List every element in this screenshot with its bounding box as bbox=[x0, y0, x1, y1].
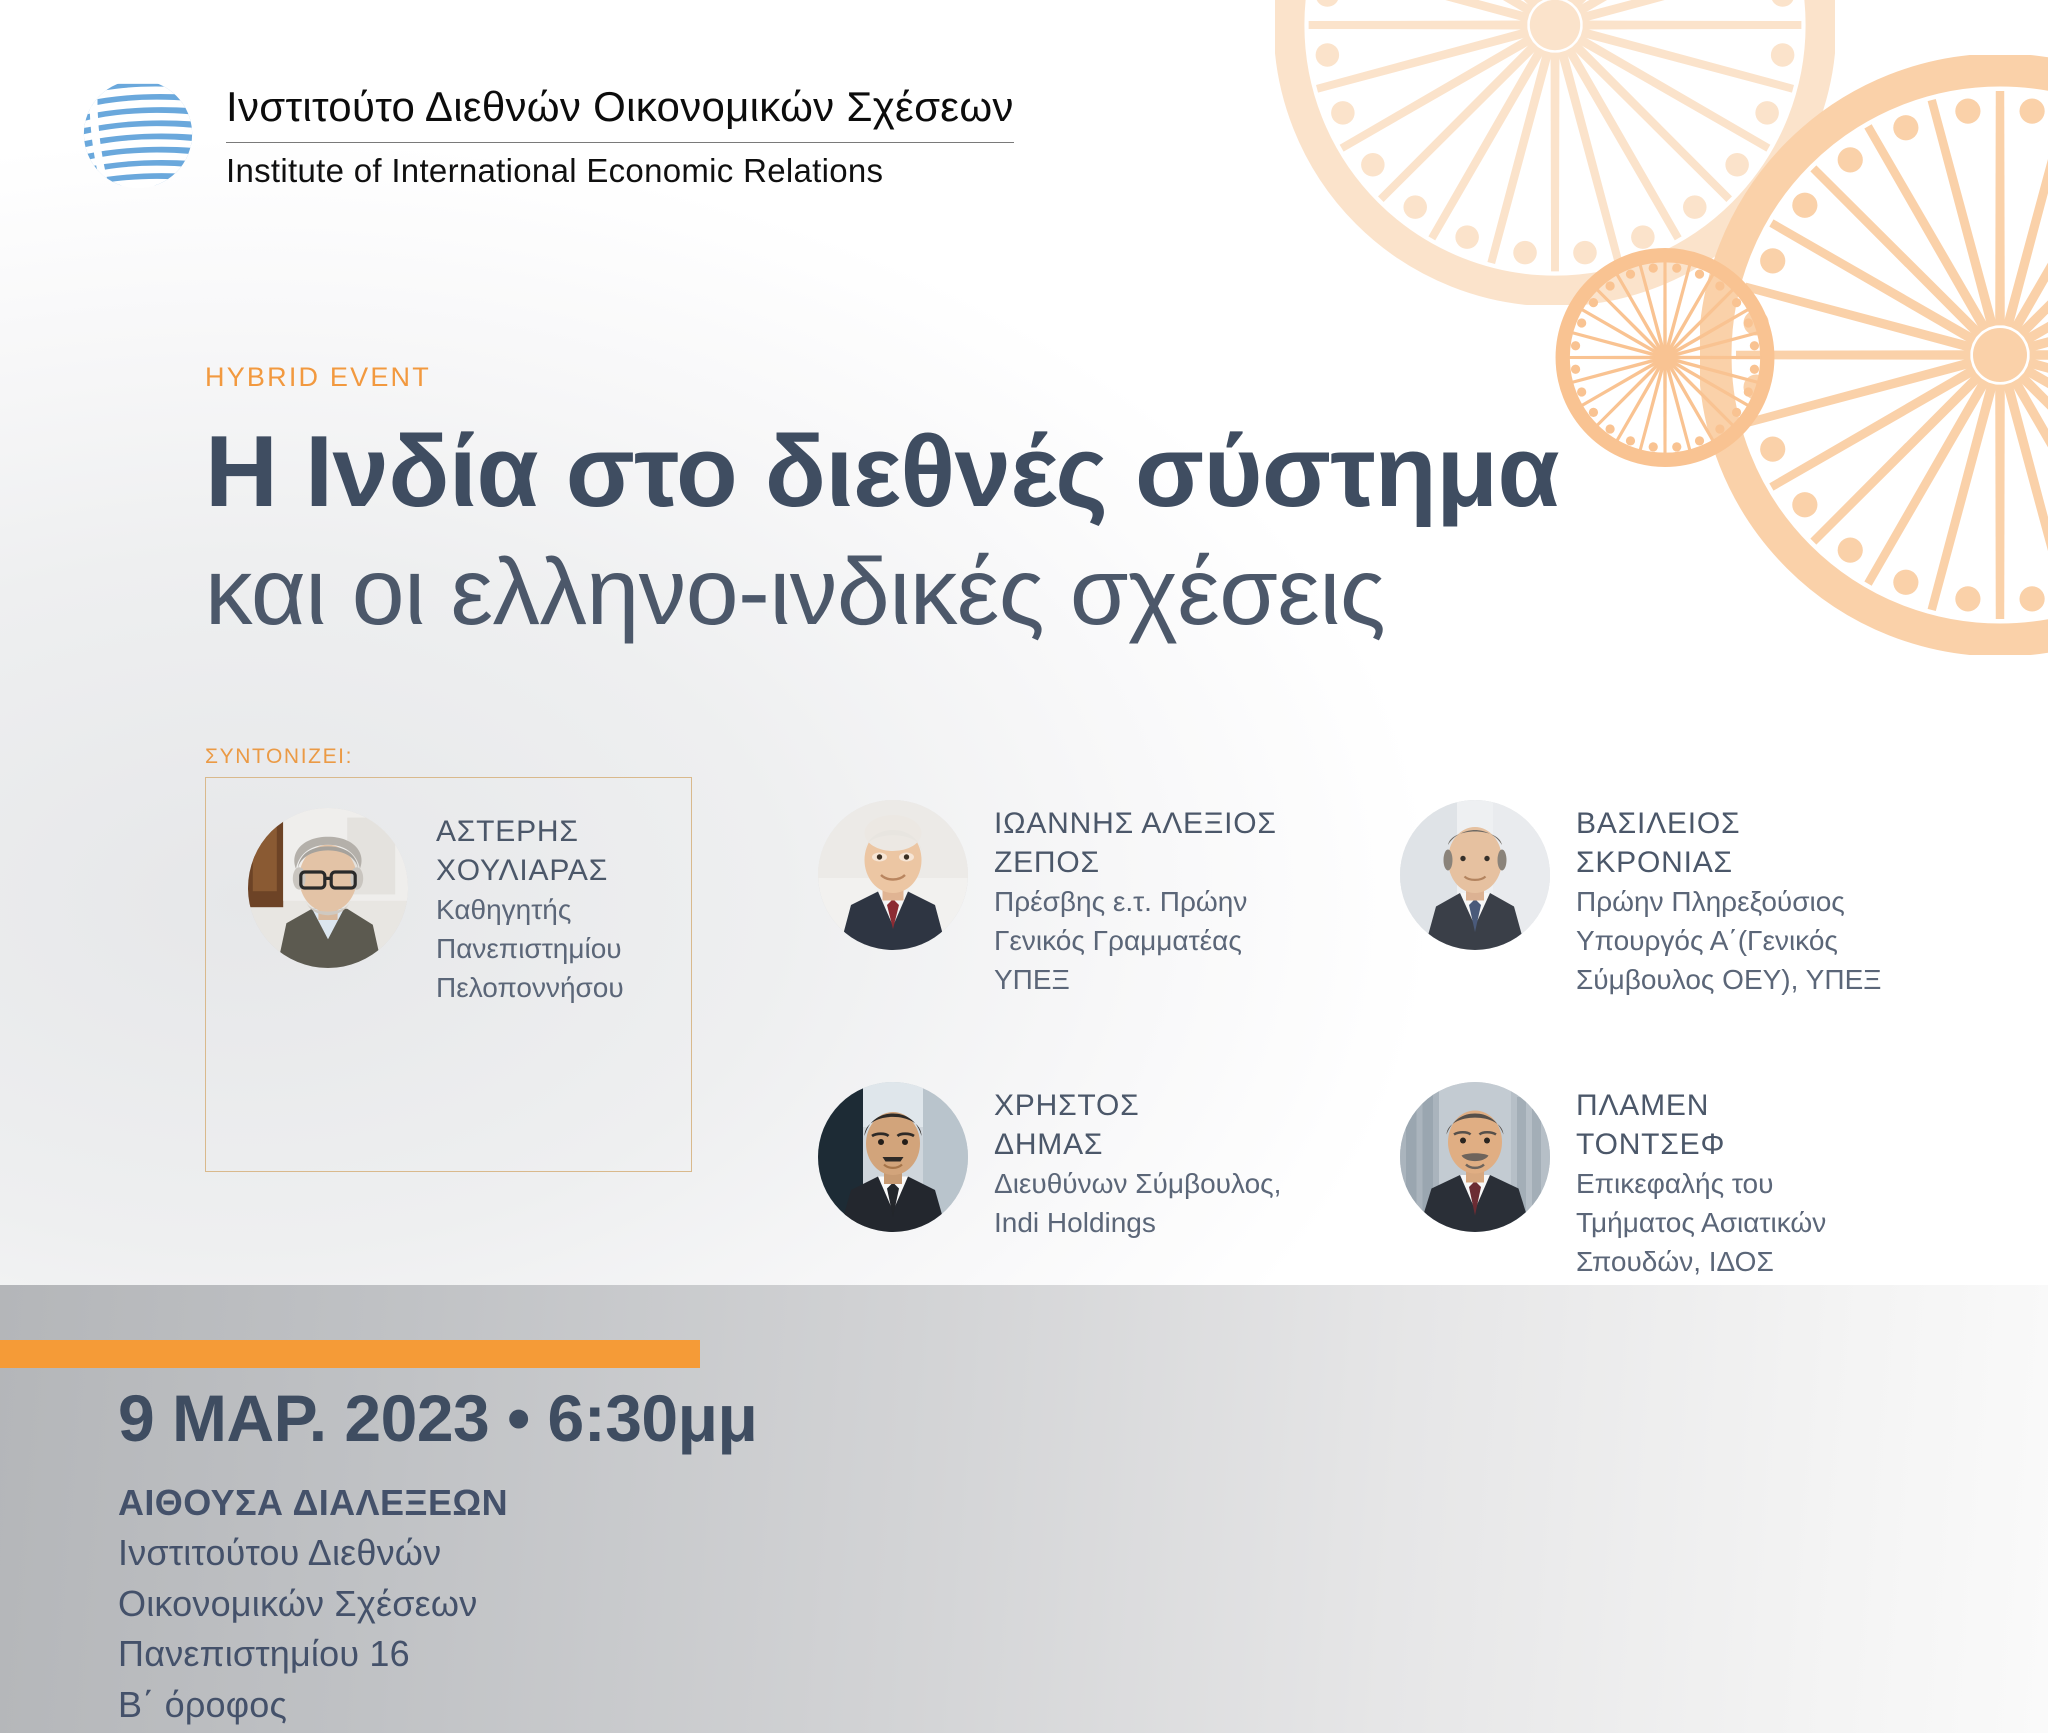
moderator-name-line-1: ΑΣΤΕΡΗΣ bbox=[436, 812, 624, 851]
logo-divider bbox=[226, 142, 1014, 143]
ashoka-chakra-icon bbox=[1275, 0, 1835, 305]
moderator-card: ΑΣΤΕΡΗΣ ΧΟΥΛΙΑΡΑΣ Καθηγητής Πανεπιστημίο… bbox=[248, 808, 624, 1007]
speaker-name-line-2: ΖΕΠΟΣ bbox=[994, 843, 1277, 882]
speaker-role-line-3: Σύμβουλος ΟΕΥ), ΥΠΕΞ bbox=[1576, 962, 1881, 999]
event-type-label: HYBRID EVENT bbox=[205, 362, 431, 393]
ashoka-chakra-icon bbox=[1700, 55, 2048, 655]
moderator-details: ΑΣΤΕΡΗΣ ΧΟΥΛΙΑΡΑΣ Καθηγητής Πανεπιστημίο… bbox=[436, 808, 624, 1007]
speaker-role-line-2: Τμήματος Ασιατικών bbox=[1576, 1205, 1826, 1242]
avatar bbox=[1400, 800, 1550, 950]
speaker-role-line-2: Γενικός Γραμματέας bbox=[994, 923, 1277, 960]
speaker-details: ΠΛΑΜΕΝ ΤΟΝΤΣΕΦ Επικεφαλής του Τμήματος Α… bbox=[1576, 1082, 1826, 1281]
avatar bbox=[818, 800, 968, 950]
speaker-role-line-2: Υπουργός Α΄(Γενικός bbox=[1576, 923, 1881, 960]
moderator-name-line-2: ΧΟΥΛΙΑΡΑΣ bbox=[436, 851, 624, 890]
speaker-role-line-1: Επικεφαλής του bbox=[1576, 1166, 1826, 1203]
moderator-role-line-3: Πελοποννήσου bbox=[436, 970, 624, 1007]
avatar bbox=[248, 808, 408, 968]
speaker-card: ΧΡΗΣΤΟΣ ΔΗΜΑΣ Διευθύνων Σύμβουλος, Indi … bbox=[818, 1082, 1281, 1244]
organization-header: Ινστιτούτο Διεθνών Οικονομικών Σχέσεων I… bbox=[72, 68, 1014, 200]
speaker-details: ΧΡΗΣΤΟΣ ΔΗΜΑΣ Διευθύνων Σύμβουλος, Indi … bbox=[994, 1082, 1281, 1244]
speaker-name-line-1: ΒΑΣΙΛΕΙΟΣ bbox=[1576, 804, 1881, 843]
avatar bbox=[818, 1082, 968, 1232]
speaker-name-line-2: ΣΚΡΟΝΙΑΣ bbox=[1576, 843, 1881, 882]
page-title: Η Ινδία στο διεθνές σύστημα και οι ελλην… bbox=[205, 418, 1705, 645]
title-line-1: Η Ινδία στο διεθνές σύστημα bbox=[205, 418, 1705, 527]
speaker-name-line-1: ΠΛΑΜΕΝ bbox=[1576, 1086, 1826, 1125]
venue-line-2: Οικονομικών Σχέσεων bbox=[118, 1579, 508, 1629]
speaker-card: ΠΛΑΜΕΝ ΤΟΝΤΣΕΦ Επικεφαλής του Τμήματος Α… bbox=[1400, 1082, 1826, 1281]
speaker-details: ΒΑΣΙΛΕΙΟΣ ΣΚΡΟΝΙΑΣ Πρώην Πληρεξούσιος Υπ… bbox=[1576, 800, 1881, 999]
organization-name-en: Institute of International Economic Rela… bbox=[226, 152, 1014, 190]
speaker-role-line-3: Σπουδών, ΙΔΟΣ bbox=[1576, 1244, 1826, 1281]
speaker-role-line-2: Indi Holdings bbox=[994, 1205, 1281, 1242]
speaker-name-line-2: ΔΗΜΑΣ bbox=[994, 1125, 1281, 1164]
event-datetime: 9 ΜΑΡ. 2023 • 6:30μμ bbox=[118, 1380, 757, 1456]
speaker-role-line-1: Διευθύνων Σύμβουλος, bbox=[994, 1166, 1281, 1203]
accent-bar bbox=[0, 1340, 700, 1368]
speaker-role-line-3: ΥΠΕΞ bbox=[994, 962, 1277, 999]
venue-line-3: Πανεπιστημίου 16 bbox=[118, 1629, 508, 1679]
venue-block: ΑΙΘΟΥΣΑ ΔΙΑΛΕΞΕΩΝ Ινστιτούτου Διεθνών Οι… bbox=[118, 1478, 508, 1730]
speaker-role-line-1: Πρώην Πληρεξούσιος bbox=[1576, 884, 1881, 921]
speaker-name-line-1: ΙΩΑΝΝΗΣ ΑΛΕΞΙΟΣ bbox=[994, 804, 1277, 843]
globe-icon bbox=[72, 68, 204, 200]
event-poster: Ινστιτούτο Διεθνών Οικονομικών Σχέσεων I… bbox=[0, 0, 2048, 1733]
moderator-role-line-2: Πανεπιστημίου bbox=[436, 931, 624, 968]
venue-line-4: Β΄ όροφος bbox=[118, 1680, 508, 1730]
speaker-card: ΙΩΑΝΝΗΣ ΑΛΕΞΙΟΣ ΖΕΠΟΣ Πρέσβης ε.τ. Πρώην… bbox=[818, 800, 1277, 999]
speaker-name-line-2: ΤΟΝΤΣΕΦ bbox=[1576, 1125, 1826, 1164]
speaker-card: ΒΑΣΙΛΕΙΟΣ ΣΚΡΟΝΙΑΣ Πρώην Πληρεξούσιος Υπ… bbox=[1400, 800, 1881, 999]
moderator-label: ΣΥΝΤΟΝΙΖΕΙ: bbox=[205, 745, 353, 769]
moderator-role-line-1: Καθηγητής bbox=[436, 892, 624, 929]
venue-hall: ΑΙΘΟΥΣΑ ΔΙΑΛΕΞΕΩΝ bbox=[118, 1478, 508, 1528]
speaker-role-line-1: Πρέσβης ε.τ. Πρώην bbox=[994, 884, 1277, 921]
speaker-details: ΙΩΑΝΝΗΣ ΑΛΕΞΙΟΣ ΖΕΠΟΣ Πρέσβης ε.τ. Πρώην… bbox=[994, 800, 1277, 999]
venue-line-1: Ινστιτούτου Διεθνών bbox=[118, 1528, 508, 1578]
title-line-2: και οι ελληνο-ινδικές σχέσεις bbox=[205, 539, 1705, 645]
organization-name-el: Ινστιτούτο Διεθνών Οικονομικών Σχέσεων bbox=[226, 83, 1014, 131]
organization-name-block: Ινστιτούτο Διεθνών Οικονομικών Σχέσεων I… bbox=[226, 79, 1014, 190]
speaker-name-line-1: ΧΡΗΣΤΟΣ bbox=[994, 1086, 1281, 1125]
avatar bbox=[1400, 1082, 1550, 1232]
